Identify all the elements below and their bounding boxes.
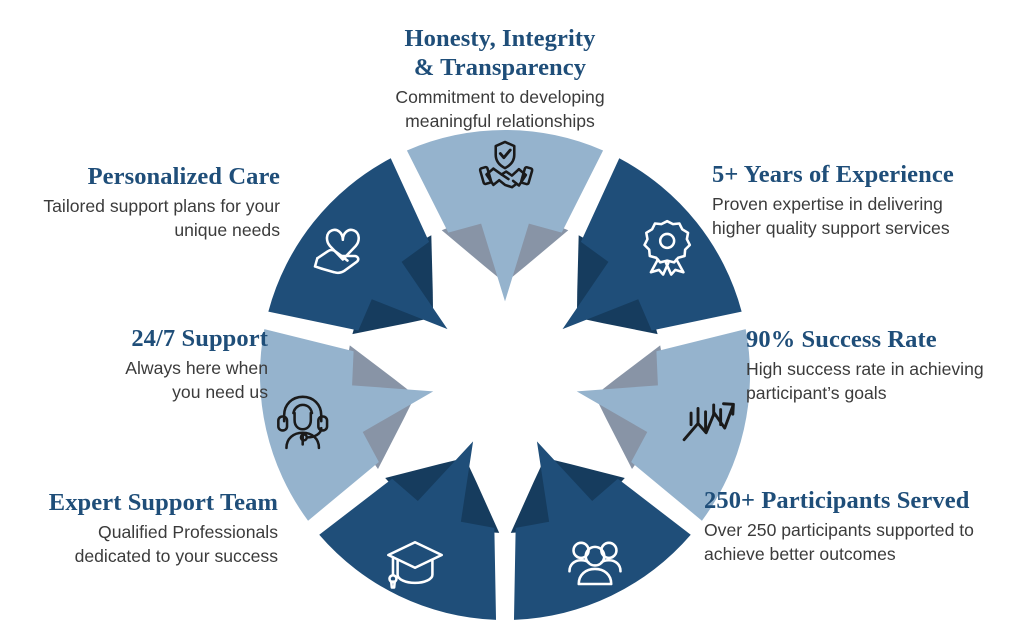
label-experience: 5+ Years of Experience Proven expertise … (712, 160, 1024, 240)
label-participants-title: 250+ Participants Served (704, 486, 1024, 515)
wheel-segment-personalized[interactable] (268, 158, 447, 334)
label-success-rate: 90% Success Rate High success rate in ac… (746, 325, 1018, 405)
label-experience-desc: Proven expertise in delivering higher qu… (712, 192, 1024, 240)
label-support-247-title: 24/7 Support (28, 324, 268, 353)
infographic-canvas: Honesty, Integrity & Transparency Commit… (0, 0, 1024, 638)
label-participants-desc: Over 250 participants supported to achie… (704, 518, 1024, 566)
label-participants: 250+ Participants Served Over 250 partic… (704, 486, 1024, 566)
label-expert-team: Expert Support Team Qualified Profession… (2, 488, 278, 568)
label-experience-title: 5+ Years of Experience (712, 160, 1024, 189)
label-personalized-care-desc: Tailored support plans for your unique n… (0, 194, 280, 242)
label-honesty: Honesty, Integrity & Transparency Commit… (332, 24, 668, 133)
label-success-rate-desc: High success rate in achieving participa… (746, 357, 1018, 405)
label-success-rate-title: 90% Success Rate (746, 325, 1018, 354)
label-support-247-desc: Always here when you need us (28, 356, 268, 404)
label-honesty-title: Honesty, Integrity & Transparency (332, 24, 668, 82)
label-honesty-desc: Commitment to developing meaningful rela… (332, 85, 668, 133)
label-support-247: 24/7 Support Always here when you need u… (28, 324, 268, 404)
label-personalized-care: Personalized Care Tailored support plans… (0, 162, 280, 242)
wheel-segment-honesty[interactable] (407, 130, 603, 301)
label-expert-team-desc: Qualified Professionals dedicated to you… (2, 520, 278, 568)
label-expert-team-title: Expert Support Team (2, 488, 278, 517)
label-personalized-care-title: Personalized Care (0, 162, 280, 191)
